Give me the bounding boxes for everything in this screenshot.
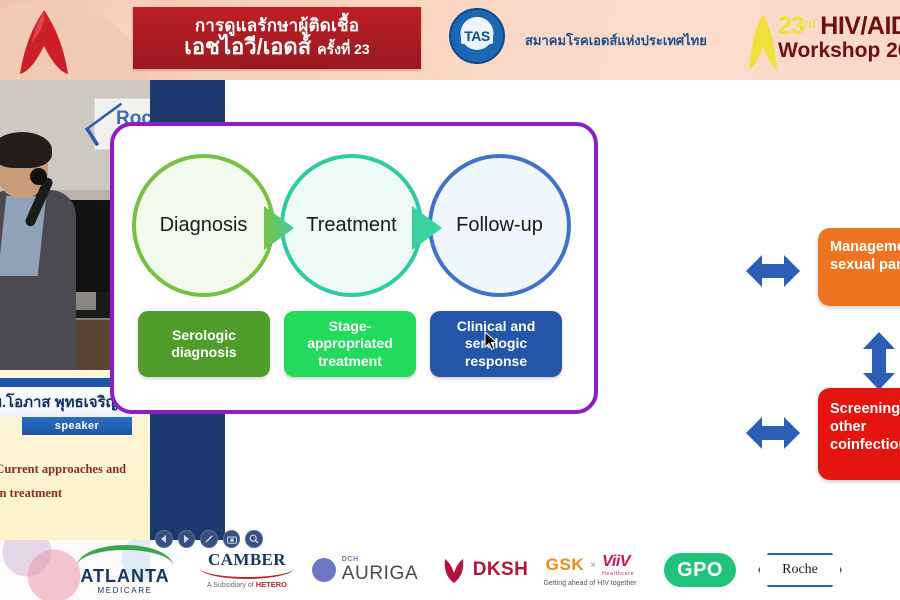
flow-diagram-panel: Diagnosis Treatment Follow-up Ser (110, 122, 598, 414)
flow-circle-treatment-label: Treatment (306, 214, 396, 237)
sponsor-auriga-sub: DCH (342, 556, 418, 563)
flow-box-stage-appropriated-treatment: Stage-appropriated treatment (284, 311, 416, 377)
sponsor-bar: ATLANTA MEDICARE CAMBER A Subsidiary of … (0, 540, 900, 600)
flow-circle-diagnosis-label: Diagnosis (160, 214, 248, 237)
screen: การดูแลรักษาผู้ติดเชื้อ เอชไอวี/เอดส์ คร… (0, 0, 900, 600)
sponsor-roche-name: Roche (782, 562, 818, 578)
roche-hex-icon: Roche (758, 553, 842, 587)
side-box-management-sexual-partner: Management of sexual partner (818, 228, 900, 306)
sponsor-camber-sub: A Subsidiary of (207, 582, 254, 589)
tas-society-logo: TAS (449, 8, 505, 64)
tas-logo-text: TAS (461, 28, 492, 44)
sponsor-viiv-sub: Healthcare (602, 571, 634, 577)
double-arrow-vertical-icon (860, 332, 898, 390)
speaker-figure (0, 138, 76, 370)
flow-circle-followup-label: Follow-up (456, 214, 543, 237)
sponsor-atlanta: ATLANTA MEDICARE (60, 540, 190, 600)
atlanta-arc-icon (77, 545, 173, 566)
sponsor-gsk-name: GSK (546, 555, 585, 575)
sponsor-camber-name: CAMBER (208, 551, 286, 568)
sponsor-auriga: DCH AURIGA (300, 540, 430, 600)
thai-title-line1: การดูแลรักษาผู้ติดเชื้อ (195, 17, 359, 35)
sponsor-atlanta-sub: MEDICARE (97, 586, 152, 595)
event-banner: การดูแลรักษาผู้ติดเชื้อ เอชไอวี/เอดส์ คร… (0, 0, 900, 80)
sponsor-gsk-tagline: Getting ahead of HIV together (543, 580, 636, 587)
sponsor-atlanta-name: ATLANTA (80, 567, 169, 585)
talk-topic-line1: : Current approaches and (0, 458, 150, 482)
sponsor-roche: Roche (750, 540, 850, 600)
sponsor-viiv-name: ViiV (602, 553, 630, 570)
microphone-head (30, 168, 47, 185)
sponsor-camber-parent: HETERO (256, 580, 287, 589)
double-arrow-horizontal-icon-2 (746, 414, 800, 452)
thai-title-line2: เอชไอวี/เอดส์ (184, 34, 311, 59)
mouse-cursor-icon (484, 331, 498, 351)
camber-underline-icon (200, 568, 294, 579)
sponsor-gsk-viiv: GSK × ViiV Healthcare Getting ahead of H… (530, 540, 650, 600)
sponsor-dksh-name: DKSH (473, 559, 528, 581)
workshop-ordinal: rd (804, 17, 816, 31)
speaker-name: พ.โอภาส พุทธเจริญ (0, 390, 118, 414)
flow-arrow-right-icon-2 (412, 206, 464, 250)
society-name-thai: สมาคมโรคเอดส์แห่งประเทศไทย (525, 30, 707, 51)
double-arrow-horizontal-icon-1 (746, 252, 800, 290)
yellow-ribbon-icon (746, 12, 780, 72)
side-box-screening-coinfections: Screening for other coinfections (818, 388, 900, 480)
flow-box-serologic-diagnosis: Serologic diagnosis (138, 311, 270, 377)
speaker-hair (0, 132, 52, 168)
talk-topic: : Current approaches and s in treatment (0, 458, 150, 506)
flow-arrow-right-icon-1 (264, 206, 316, 250)
workshop-logo: 23rd HIV/AIDS Workshop 202 (742, 6, 900, 76)
red-aids-ribbon-icon (14, 2, 74, 80)
dksh-mark-icon (442, 557, 466, 583)
speaker-role-label: speaker (55, 420, 99, 432)
gpo-pill-icon: GPO (664, 553, 736, 587)
sponsor-gpo-name: GPO (677, 559, 723, 582)
sponsor-auriga-name: AURIGA (342, 563, 418, 585)
thai-title-edition: ครั้งที่ 23 (317, 41, 369, 57)
workshop-line2: Workshop 202 (778, 39, 900, 63)
talk-topic-line2: s in treatment (0, 482, 150, 506)
auriga-mark-icon (312, 558, 336, 582)
workshop-number: 23 (778, 12, 804, 40)
flow-circle-diagnosis: Diagnosis (132, 154, 275, 297)
sponsor-camber: CAMBER A Subsidiary of HETERO (192, 540, 302, 600)
thai-event-title: การดูแลรักษาผู้ติดเชื้อ เอชไอวี/เอดส์ คร… (133, 7, 421, 69)
speaker-role-badge: speaker (22, 417, 132, 435)
gsk-separator-icon: × (590, 560, 596, 571)
sponsor-gpo: GPO (655, 540, 745, 600)
workshop-topic: HIV/AIDS (820, 12, 900, 40)
